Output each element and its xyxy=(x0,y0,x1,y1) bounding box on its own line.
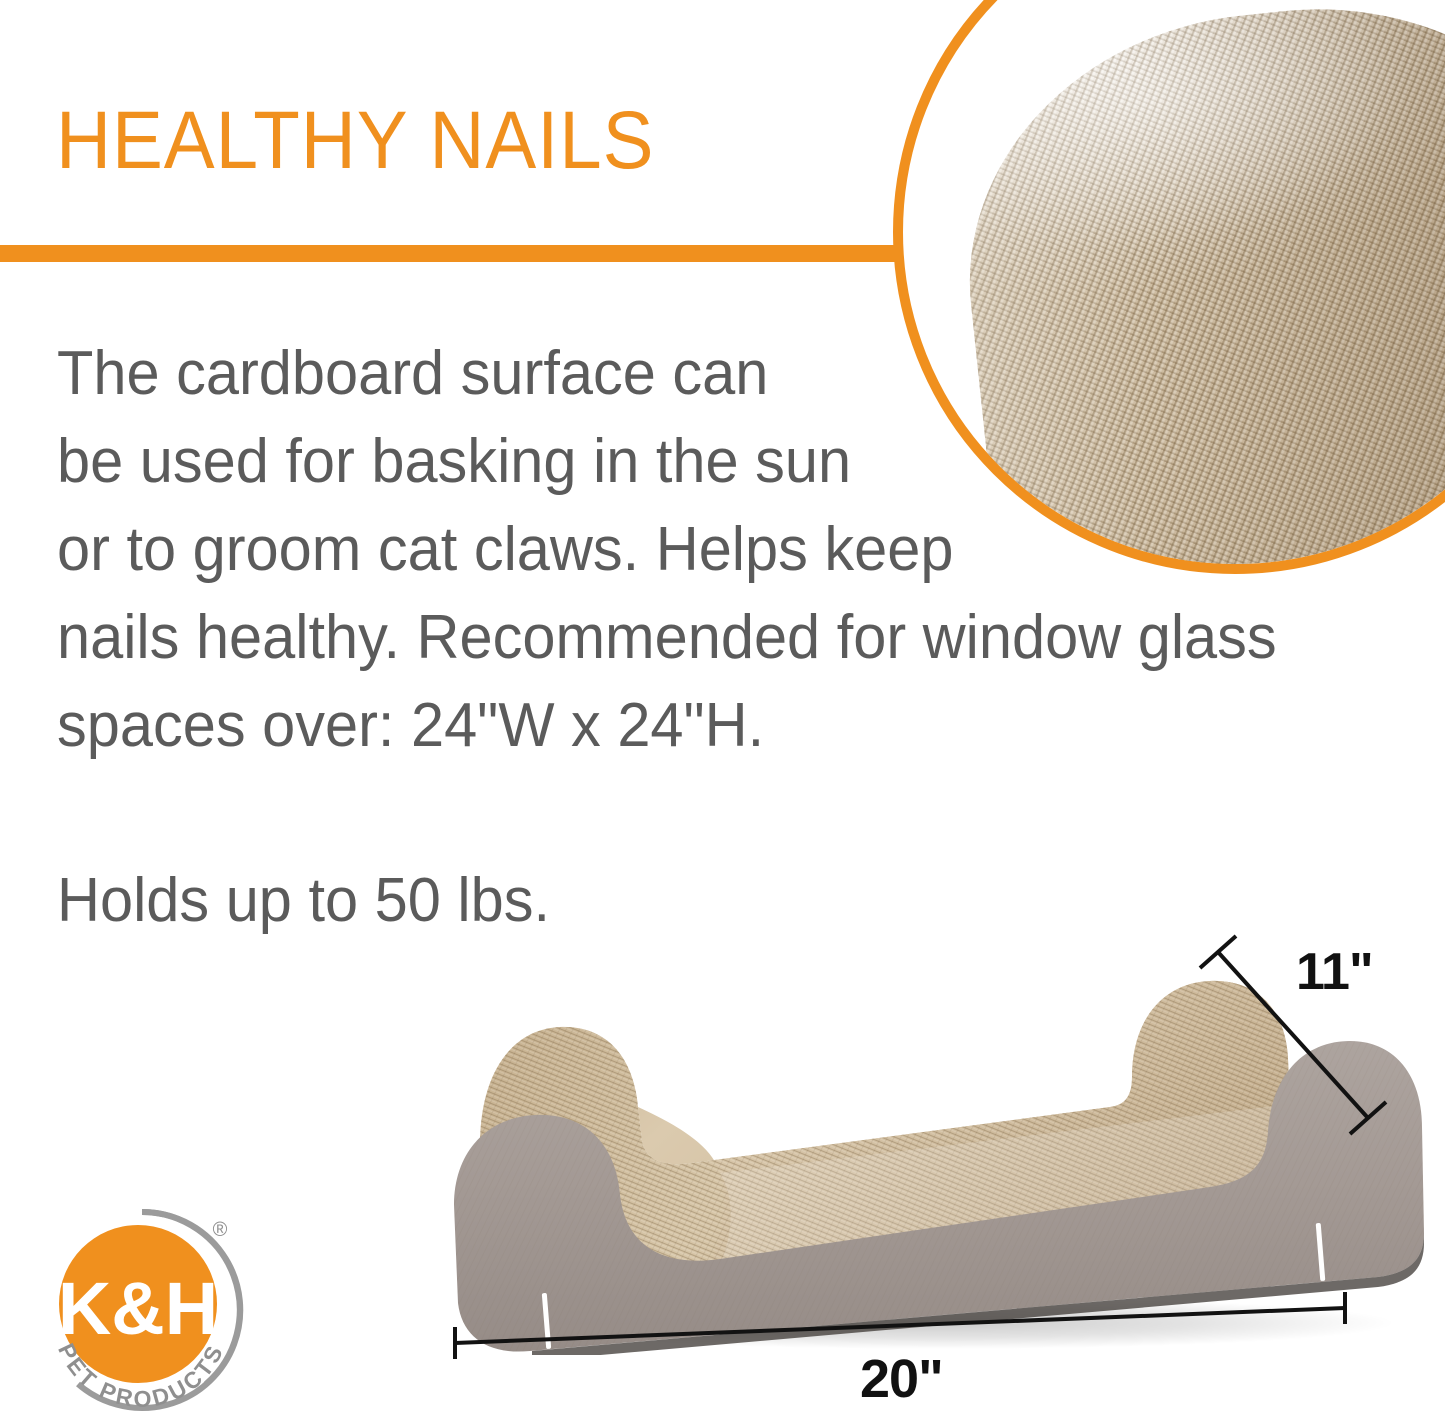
body-line: spaces over: 24"W x 24"H. xyxy=(57,682,1363,770)
body-line: or to groom cat claws. Helps keep xyxy=(57,506,1363,594)
product-illustration xyxy=(420,955,1430,1355)
logo-wordmark: K&H xyxy=(58,1267,218,1350)
infographic-page: HEALTHY NAILS The cardboard surface can … xyxy=(0,0,1445,1417)
logo-registered-icon: ® xyxy=(213,1219,228,1241)
capacity-text: Holds up to 50 lbs. xyxy=(57,862,550,940)
dimension-label-width: 20" xyxy=(860,1348,943,1410)
body-line: The cardboard surface can xyxy=(57,330,1363,418)
divider-rule xyxy=(0,245,903,262)
brand-logo: K&H ® PET PRODUCTS xyxy=(38,1206,246,1414)
body-copy: The cardboard surface can be used for ba… xyxy=(57,330,1363,770)
product-image xyxy=(420,955,1430,1355)
body-line: be used for basking in the sun xyxy=(57,418,1363,506)
page-title: HEALTHY NAILS xyxy=(56,96,654,186)
dimension-label-depth: 11" xyxy=(1296,942,1373,1002)
body-line: nails healthy. Recommended for window gl… xyxy=(57,594,1363,682)
